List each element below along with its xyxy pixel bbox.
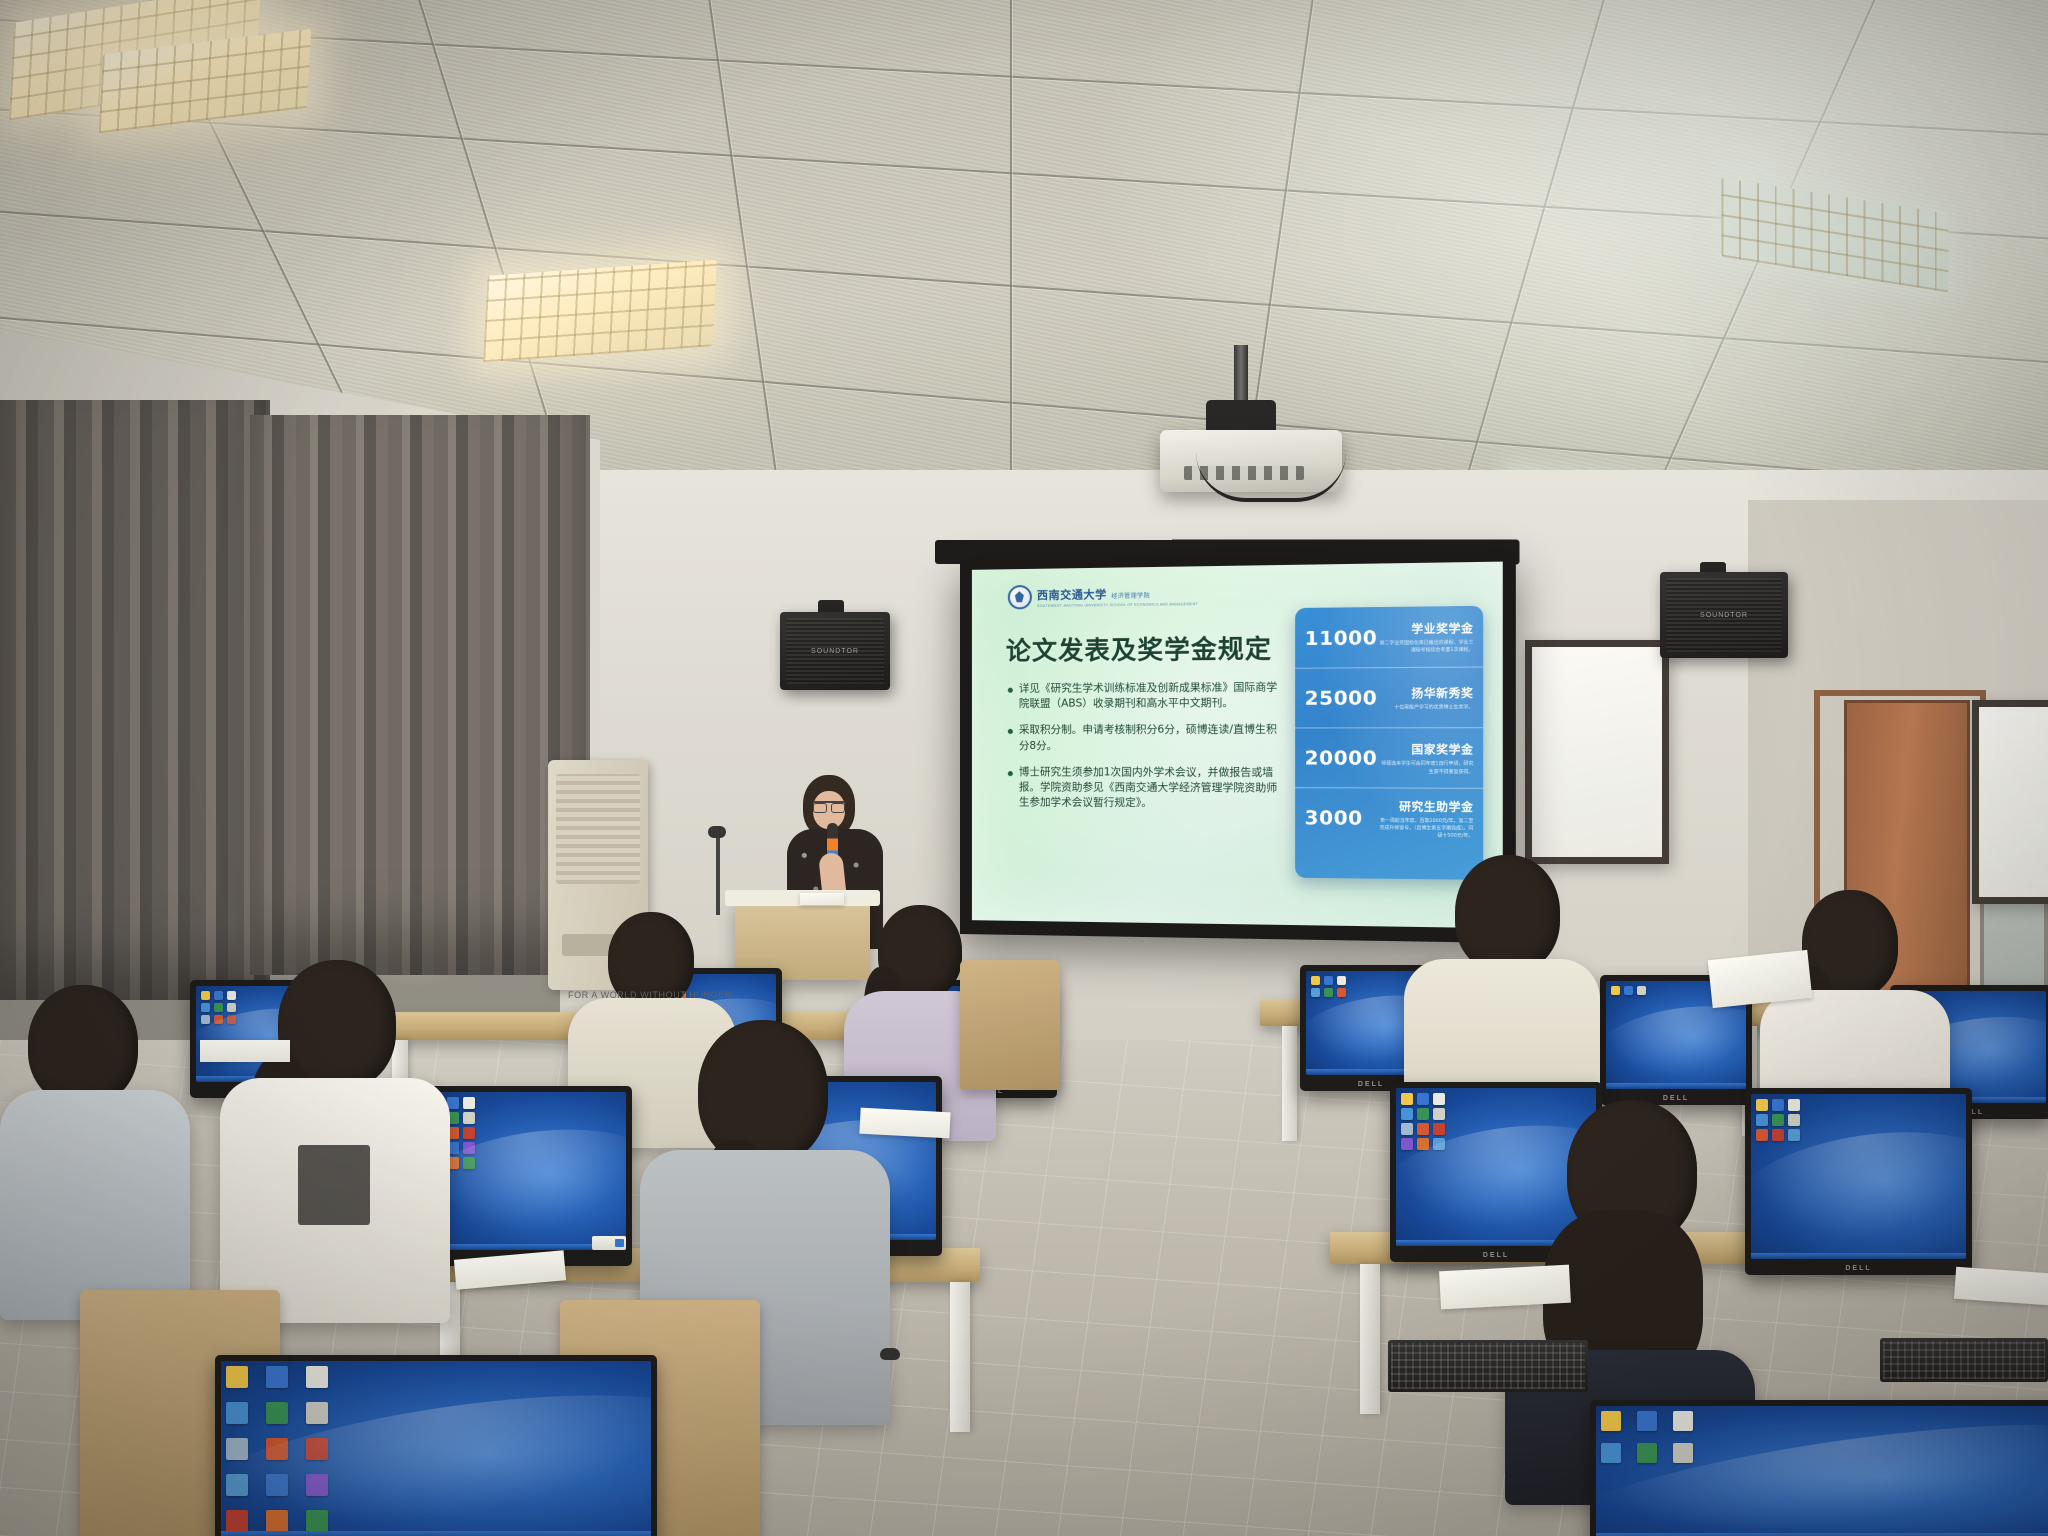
desktop-icon[interactable] [1611, 986, 1620, 995]
desktop-icon[interactable] [1417, 1123, 1429, 1135]
desktop-icon[interactable] [1756, 1129, 1768, 1141]
taskbar[interactable] [1606, 1083, 1746, 1089]
bullet-dot-icon [1008, 771, 1013, 776]
table-row: 25000 扬华新秀奖 十位用能产学习的优秀博士生奖学。 [1295, 666, 1483, 727]
desktop-icon[interactable] [1772, 1114, 1784, 1126]
desktop-icon[interactable] [1311, 988, 1320, 997]
ceiling-light-panel [483, 260, 717, 363]
bullet-dot-icon [1008, 688, 1013, 693]
desktop-icon-grid [1611, 986, 1646, 995]
taskbar[interactable] [1751, 1253, 1966, 1259]
desktop-icon[interactable] [306, 1366, 328, 1388]
award-amount: 3000 [1305, 807, 1371, 830]
student-head [28, 985, 138, 1105]
desktop-icon[interactable] [1788, 1114, 1800, 1126]
bullet-text: 详见《研究生学术训练标准及创新成果标准》国际商学院联盟（ABS）收录期刊和高水平… [1019, 680, 1285, 712]
wall-speaker-left: SOUNDTOR [780, 612, 890, 690]
monitor-sticker [592, 1236, 626, 1250]
university-crest-icon [1008, 585, 1032, 609]
desktop-icon[interactable] [226, 1402, 248, 1424]
keyboard[interactable] [1388, 1340, 1588, 1392]
desktop-icon[interactable] [266, 1402, 288, 1424]
desktop-icon[interactable] [201, 1003, 210, 1012]
desktop-icon[interactable] [1417, 1138, 1429, 1150]
list-item: 采取积分制。申请考核制积分6分，硕博连读/直博生积分8分。 [1008, 723, 1285, 754]
desktop-icon[interactable] [1311, 976, 1320, 985]
paper-sheet [859, 1108, 950, 1139]
projector-pole [1234, 345, 1248, 407]
bullet-dot-icon [1008, 729, 1013, 734]
desktop-icon-grid [1401, 1093, 1445, 1150]
desktop-icon[interactable] [463, 1127, 475, 1139]
shirt-text: FOR A WORLD WITHOUT HUNGER [560, 990, 740, 1000]
award-description: 师德选本学生可由同年度1自行申请，研究生获不得重复获得。 [1377, 761, 1474, 776]
desktop-icon[interactable] [1673, 1411, 1693, 1431]
ac-vent [556, 774, 640, 884]
desktop-icon-grid [226, 1366, 328, 1532]
desktop-icon[interactable] [1433, 1093, 1445, 1105]
computer-monitor[interactable]: DELL [420, 1086, 632, 1266]
desk-leg [1282, 1026, 1297, 1141]
desktop-icon[interactable] [266, 1366, 288, 1388]
school-name-cn: 经济管理学院 [1111, 593, 1150, 600]
award-name: 研究生助学金 [1377, 798, 1474, 815]
taskbar[interactable] [221, 1531, 651, 1536]
shirt-graphic [298, 1145, 370, 1225]
award-name: 国家奖学金 [1377, 741, 1474, 758]
window-curtain [0, 400, 270, 1000]
table-row: 20000 国家奖学金 师德选本学生可由同年度1自行申请，研究生获不得重复获得。 [1295, 727, 1483, 788]
slide-logo: 西南交通大学 经济管理学院 SOUTHWEST JIAOTONG UNIVERS… [1008, 583, 1198, 610]
desktop-icon[interactable] [463, 1157, 475, 1169]
desktop-icon[interactable] [1401, 1093, 1413, 1105]
student-head [1455, 855, 1560, 973]
desktop-icon[interactable] [266, 1474, 288, 1496]
student [220, 960, 450, 1320]
desktop-icon[interactable] [226, 1510, 248, 1532]
desktop-icon[interactable] [1601, 1411, 1621, 1431]
desktop-icon[interactable] [1401, 1108, 1413, 1120]
desktop-icon[interactable] [201, 991, 210, 1000]
desktop-icon[interactable] [1417, 1108, 1429, 1120]
monitor-screen [1596, 1406, 2048, 1536]
award-description: 第二学业奖国标化库已推出的课程、学业三课程考核综合考量1次课程。 [1377, 639, 1474, 655]
table-row: 3000 研究生助学金 第一周起当年度，百歌2000元/年。第二至完成升修留号，… [1295, 787, 1483, 848]
list-item: 博士研究生须参加1次国内外学术会议，并做报告或墙报。学院资助参见《西南交通大学经… [1008, 765, 1285, 812]
desktop-icon[interactable] [1401, 1123, 1413, 1135]
scholarship-panel: 11000 学业奖学金 第二学业奖国标化库已推出的课程、学业三课程考核综合考量1… [1295, 606, 1483, 880]
desktop-icon[interactable] [266, 1438, 288, 1460]
desktop-icon[interactable] [266, 1510, 288, 1532]
award-description: 十位用能产学习的优秀博士生奖学。 [1377, 704, 1474, 712]
paper-sheet [1954, 1267, 2048, 1306]
desktop-icon[interactable] [1637, 1443, 1657, 1463]
desktop-icon[interactable] [201, 1015, 210, 1024]
microphone-stand [716, 835, 720, 915]
desktop-icon[interactable] [463, 1142, 475, 1154]
award-amount: 11000 [1305, 626, 1371, 649]
desktop-icon[interactable] [1433, 1138, 1445, 1150]
desktop-icon[interactable] [1433, 1108, 1445, 1120]
slide-title: 论文发表及奖学金规定 [1006, 629, 1272, 668]
monitor-screen [221, 1361, 651, 1536]
list-item: 详见《研究生学术训练标准及创新成果标准》国际商学院联盟（ABS）收录期刊和高水平… [1008, 680, 1285, 712]
award-amount: 25000 [1305, 687, 1371, 710]
desk-leg [950, 1282, 970, 1432]
bullet-text: 博士研究生须参加1次国内外学术会议，并做报告或墙报。学院资助参见《西南交通大学经… [1019, 765, 1285, 812]
desk-leg [1360, 1264, 1380, 1414]
speaker-brand-label: SOUNDTOR [780, 648, 890, 655]
desktop-icon[interactable] [1417, 1093, 1429, 1105]
desktop-icon[interactable] [306, 1510, 328, 1532]
computer-monitor[interactable]: DELL [1745, 1088, 1972, 1275]
microphone-icon [708, 826, 726, 838]
desktop-icon[interactable] [306, 1438, 328, 1460]
monitor-screen [1751, 1094, 1966, 1259]
computer-monitor[interactable]: DELL [1590, 1400, 2048, 1536]
whiteboard [1525, 640, 1669, 864]
speaker-brand-label: SOUNDTOR [1660, 612, 1788, 619]
award-name: 学业奖学金 [1377, 619, 1474, 637]
desktop-icon[interactable] [1337, 988, 1346, 997]
desktop-icon[interactable] [1772, 1099, 1784, 1111]
desktop-icon-grid [1601, 1411, 1693, 1463]
monitor-brand-label: DELL [1745, 1265, 1972, 1272]
student-head [698, 1020, 828, 1165]
desktop-icon[interactable] [1324, 976, 1333, 985]
award-amount: 20000 [1305, 747, 1371, 770]
wall-speaker-right: SOUNDTOR [1660, 572, 1788, 658]
desktop-icon[interactable] [1637, 986, 1646, 995]
desktop-icon[interactable] [1673, 1443, 1693, 1463]
paper-sheet [800, 893, 844, 905]
desktop-icon[interactable] [1624, 986, 1633, 995]
award-description: 第一周起当年度，百歌2000元/年。第二至完成升修留号，（直博生第五学期完成）。… [1377, 817, 1474, 840]
desktop-icon[interactable] [306, 1402, 328, 1424]
university-name-cn: 西南交通大学 [1037, 588, 1107, 602]
desktop-icon[interactable] [463, 1112, 475, 1124]
mouse[interactable] [880, 1348, 900, 1360]
desktop-icon[interactable] [226, 1474, 248, 1496]
desktop-icon[interactable] [1788, 1129, 1800, 1141]
student [0, 985, 190, 1315]
student-torso [0, 1090, 190, 1320]
computer-monitor[interactable]: DELL [215, 1355, 657, 1536]
desktop-icon[interactable] [1637, 1411, 1657, 1431]
desktop-icon[interactable] [1788, 1099, 1800, 1111]
desktop-icon[interactable] [463, 1097, 475, 1109]
desktop-icon-grid [1756, 1099, 1800, 1141]
monitor-screen [426, 1092, 626, 1250]
window-curtain [250, 415, 590, 975]
desktop-icon[interactable] [306, 1474, 328, 1496]
keyboard[interactable] [1880, 1338, 2048, 1382]
paper-sheet [200, 1040, 290, 1062]
award-name: 扬华新秀奖 [1377, 684, 1474, 701]
classroom-photo: SOUNDTOR SOUNDTOR 西南交通大学 经济管理学院 SOUTHWES… [0, 0, 2048, 1536]
chair[interactable] [960, 960, 1060, 1090]
table-row: 11000 学业奖学金 第二学业奖国标化库已推出的课程、学业三课程考核综合考量1… [1295, 606, 1483, 668]
desktop-icon[interactable] [1433, 1123, 1445, 1135]
desktop-icon[interactable] [1337, 976, 1346, 985]
whiteboard [1972, 700, 2048, 904]
desktop-icon[interactable] [1601, 1443, 1621, 1463]
desktop-icon[interactable] [1324, 988, 1333, 997]
glasses-icon [813, 801, 845, 811]
desktop-icon[interactable] [1401, 1138, 1413, 1150]
desktop-icon[interactable] [226, 1366, 248, 1388]
bullet-text: 采取积分制。申请考核制积分6分，硕博连读/直博生积分8分。 [1019, 723, 1285, 754]
desktop-icon[interactable] [1772, 1129, 1784, 1141]
slide-bullet-list: 详见《研究生学术训练标准及创新成果标准》国际商学院联盟（ABS）收录期刊和高水平… [1008, 680, 1285, 824]
desktop-icon[interactable] [226, 1438, 248, 1460]
desktop-icon[interactable] [1756, 1099, 1768, 1111]
university-name-en: SOUTHWEST JIAOTONG UNIVERSITY SCHOOL OF … [1037, 602, 1198, 608]
desktop-icon[interactable] [1756, 1114, 1768, 1126]
paper-sheet [1439, 1265, 1571, 1310]
desktop-icon-grid [1311, 976, 1346, 997]
